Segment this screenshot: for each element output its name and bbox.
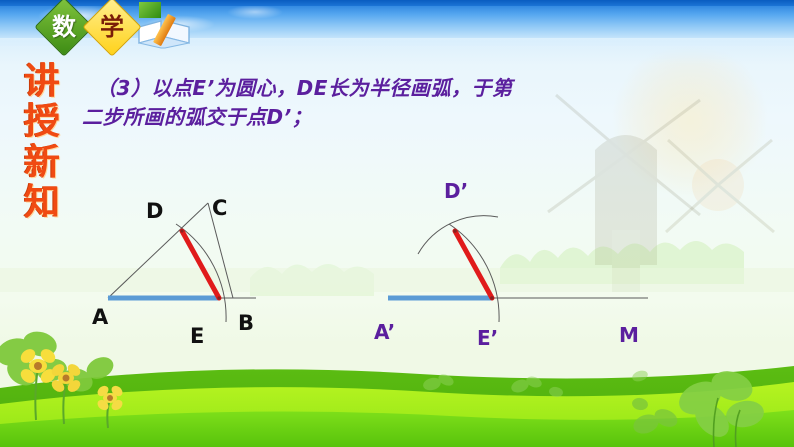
point-E-prime [490, 296, 494, 300]
label-E: E [190, 326, 204, 347]
label-D-prime: D’ [444, 181, 468, 201]
point-E [217, 296, 220, 299]
point-D [180, 229, 183, 232]
red-segment-DE [182, 231, 219, 298]
label-B: B [238, 313, 254, 334]
label-E-prime: E’ [477, 328, 498, 348]
original-angle-figure [108, 203, 256, 322]
geometry-figures [0, 0, 794, 447]
constructed-angle-figure [388, 216, 648, 322]
label-A: A [92, 307, 108, 328]
label-A-prime: A’ [374, 322, 395, 342]
label-M: M [619, 325, 639, 345]
point-D-prime [453, 229, 457, 233]
label-C: C [212, 198, 227, 219]
label-D: D [146, 201, 163, 222]
red-segment-D-prime-E-prime [455, 231, 492, 298]
slide-canvas: 数 学 讲 授 新 知 （3）以点E’为圆心，DE长为半径画弧，于第 二步所画的… [0, 0, 794, 447]
